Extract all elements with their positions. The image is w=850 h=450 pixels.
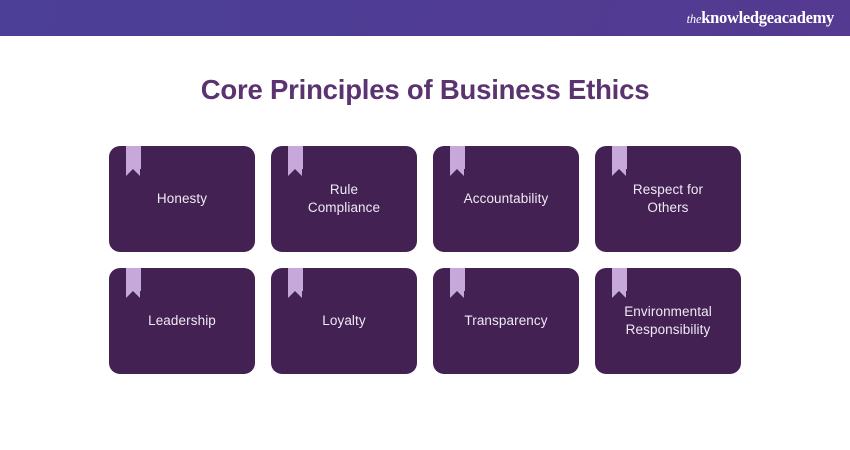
principle-card-label: Transparency bbox=[454, 312, 557, 330]
bookmark-ribbon-icon bbox=[450, 146, 465, 169]
principles-grid: Honesty Rule Compliance Accountability R… bbox=[109, 146, 741, 374]
brand-header: theknowledgeacademy bbox=[0, 0, 850, 36]
principle-card-honesty[interactable]: Honesty bbox=[109, 146, 255, 252]
principle-card-label: Respect for Others bbox=[623, 181, 713, 217]
principle-card-label: Leadership bbox=[138, 312, 226, 330]
principle-card-rule-compliance[interactable]: Rule Compliance bbox=[271, 146, 417, 252]
principle-card-label: Rule Compliance bbox=[298, 181, 390, 217]
page-title: Core Principles of Business Ethics bbox=[0, 74, 850, 106]
bookmark-ribbon-icon bbox=[126, 268, 141, 291]
principle-card-label: Loyalty bbox=[312, 312, 375, 330]
principle-card-environmental-responsibility[interactable]: Environmental Responsibility bbox=[595, 268, 741, 374]
bookmark-ribbon-icon bbox=[450, 268, 465, 291]
principle-card-label: Accountability bbox=[454, 190, 559, 208]
principle-card-transparency[interactable]: Transparency bbox=[433, 268, 579, 374]
bookmark-ribbon-icon bbox=[288, 146, 303, 169]
knowledge-academy-logo: theknowledgeacademy bbox=[687, 10, 834, 27]
principle-card-respect-for-others[interactable]: Respect for Others bbox=[595, 146, 741, 252]
principle-card-label: Honesty bbox=[147, 190, 217, 208]
logo-the-text: the bbox=[687, 13, 702, 26]
logo-main-text: knowledgeacademy bbox=[701, 10, 834, 27]
bookmark-ribbon-icon bbox=[126, 146, 141, 169]
principle-card-loyalty[interactable]: Loyalty bbox=[271, 268, 417, 374]
bookmark-ribbon-icon bbox=[288, 268, 303, 291]
principle-card-leadership[interactable]: Leadership bbox=[109, 268, 255, 374]
infographic-page: theknowledgeacademy Core Principles of B… bbox=[0, 0, 850, 450]
principle-card-label: Environmental Responsibility bbox=[614, 303, 722, 339]
bookmark-ribbon-icon bbox=[612, 146, 627, 169]
bookmark-ribbon-icon bbox=[612, 268, 627, 291]
principle-card-accountability[interactable]: Accountability bbox=[433, 146, 579, 252]
